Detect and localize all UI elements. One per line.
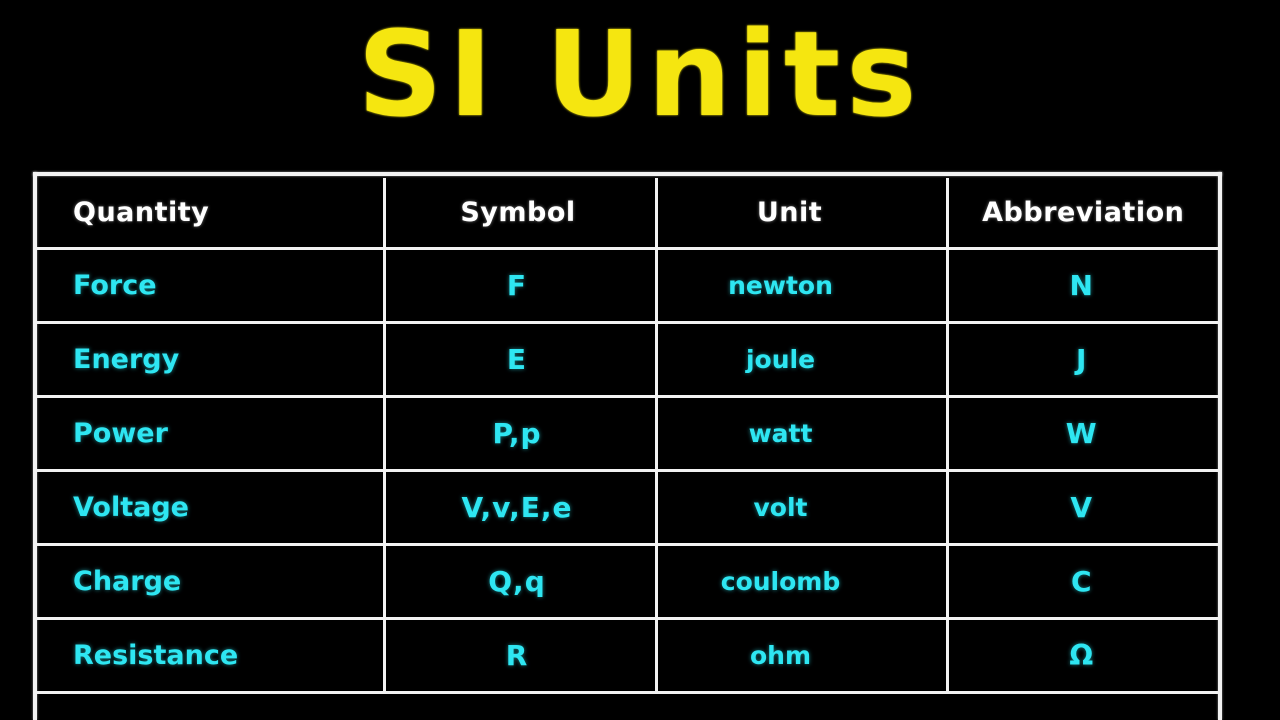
cell-abbreviation: N <box>947 248 1218 322</box>
column-header-quantity: Quantity <box>37 197 383 228</box>
cell-quantity: Power <box>37 396 384 470</box>
cell-unit: volt <box>656 470 947 544</box>
cell-symbol: P,p <box>384 396 656 470</box>
cell-quantity: Charge <box>37 544 384 618</box>
cell-symbol: E <box>384 322 656 396</box>
table-row: Voltage V,v,E,e volt V <box>37 470 1218 544</box>
unit-value: watt <box>658 419 946 448</box>
table-row: Power P,p watt W <box>37 396 1218 470</box>
column-header-unit: Unit <box>658 197 946 228</box>
table-border-right <box>1218 172 1222 720</box>
unit-value: ohm <box>658 641 946 670</box>
quantity-value: Voltage <box>37 492 383 523</box>
abbreviation-value: W <box>949 417 1219 450</box>
slide-canvas: SI Units Quantity Symbol <box>0 0 1280 720</box>
unit-value: joule <box>658 345 946 374</box>
abbreviation-value: V <box>949 491 1219 524</box>
symbol-value: P,p <box>386 417 655 450</box>
quantity-value: Force <box>37 270 383 301</box>
header-cell-symbol: Symbol <box>384 178 656 248</box>
header-cell-unit: Unit <box>656 178 947 248</box>
cell-quantity: Resistance <box>37 618 384 692</box>
header-cell-quantity: Quantity <box>37 178 384 248</box>
table-row: Force F newton N <box>37 248 1218 322</box>
cell-unit: coulomb <box>656 544 947 618</box>
column-header-symbol: Symbol <box>386 197 655 228</box>
column-header-abbreviation: Abbreviation <box>949 197 1219 228</box>
table-row: Resistance R ohm Ω <box>37 618 1218 692</box>
cell-quantity: Force <box>37 248 384 322</box>
symbol-value: R <box>386 639 655 672</box>
unit-value: newton <box>658 271 946 300</box>
quantity-value: Resistance <box>37 640 383 671</box>
header-cell-abbreviation: Abbreviation <box>947 178 1218 248</box>
cell-quantity: Energy <box>37 322 384 396</box>
cell-unit: newton <box>656 248 947 322</box>
quantity-value: Energy <box>37 344 383 375</box>
cell-abbreviation: V <box>947 470 1218 544</box>
abbreviation-value: N <box>949 269 1219 302</box>
quantity-value: Charge <box>37 566 383 597</box>
cell-unit: joule <box>656 322 947 396</box>
cell-abbreviation: C <box>947 544 1218 618</box>
cell-unit: ohm <box>656 618 947 692</box>
quantity-value: Power <box>37 418 383 449</box>
abbreviation-value: J <box>949 343 1219 376</box>
cell-quantity: Voltage <box>37 470 384 544</box>
abbreviation-value: C <box>949 565 1219 598</box>
table-header-row: Quantity Symbol Unit Abbreviation <box>37 178 1218 248</box>
cell-abbreviation: W <box>947 396 1218 470</box>
symbol-value: Q,q <box>386 565 655 598</box>
cell-symbol: V,v,E,e <box>384 470 656 544</box>
cell-abbreviation: J <box>947 322 1218 396</box>
table-row: Charge Q,q coulomb C <box>37 544 1218 618</box>
cell-symbol: F <box>384 248 656 322</box>
table-border-top <box>33 172 1222 176</box>
cell-abbreviation: Ω <box>947 618 1218 692</box>
cell-symbol: R <box>384 618 656 692</box>
abbreviation-value: Ω <box>949 639 1219 672</box>
unit-value: volt <box>658 493 946 522</box>
symbol-value: E <box>386 343 655 376</box>
page-title: SI Units <box>0 4 1280 144</box>
cell-unit: watt <box>656 396 947 470</box>
units-table: Quantity Symbol Unit Abbreviation Force <box>37 178 1218 694</box>
table-row: Energy E joule J <box>37 322 1218 396</box>
unit-value: coulomb <box>658 567 946 596</box>
cell-symbol: Q,q <box>384 544 656 618</box>
symbol-value: V,v,E,e <box>386 491 655 524</box>
symbol-value: F <box>386 269 655 302</box>
si-units-table: Quantity Symbol Unit Abbreviation Force <box>33 172 1222 720</box>
